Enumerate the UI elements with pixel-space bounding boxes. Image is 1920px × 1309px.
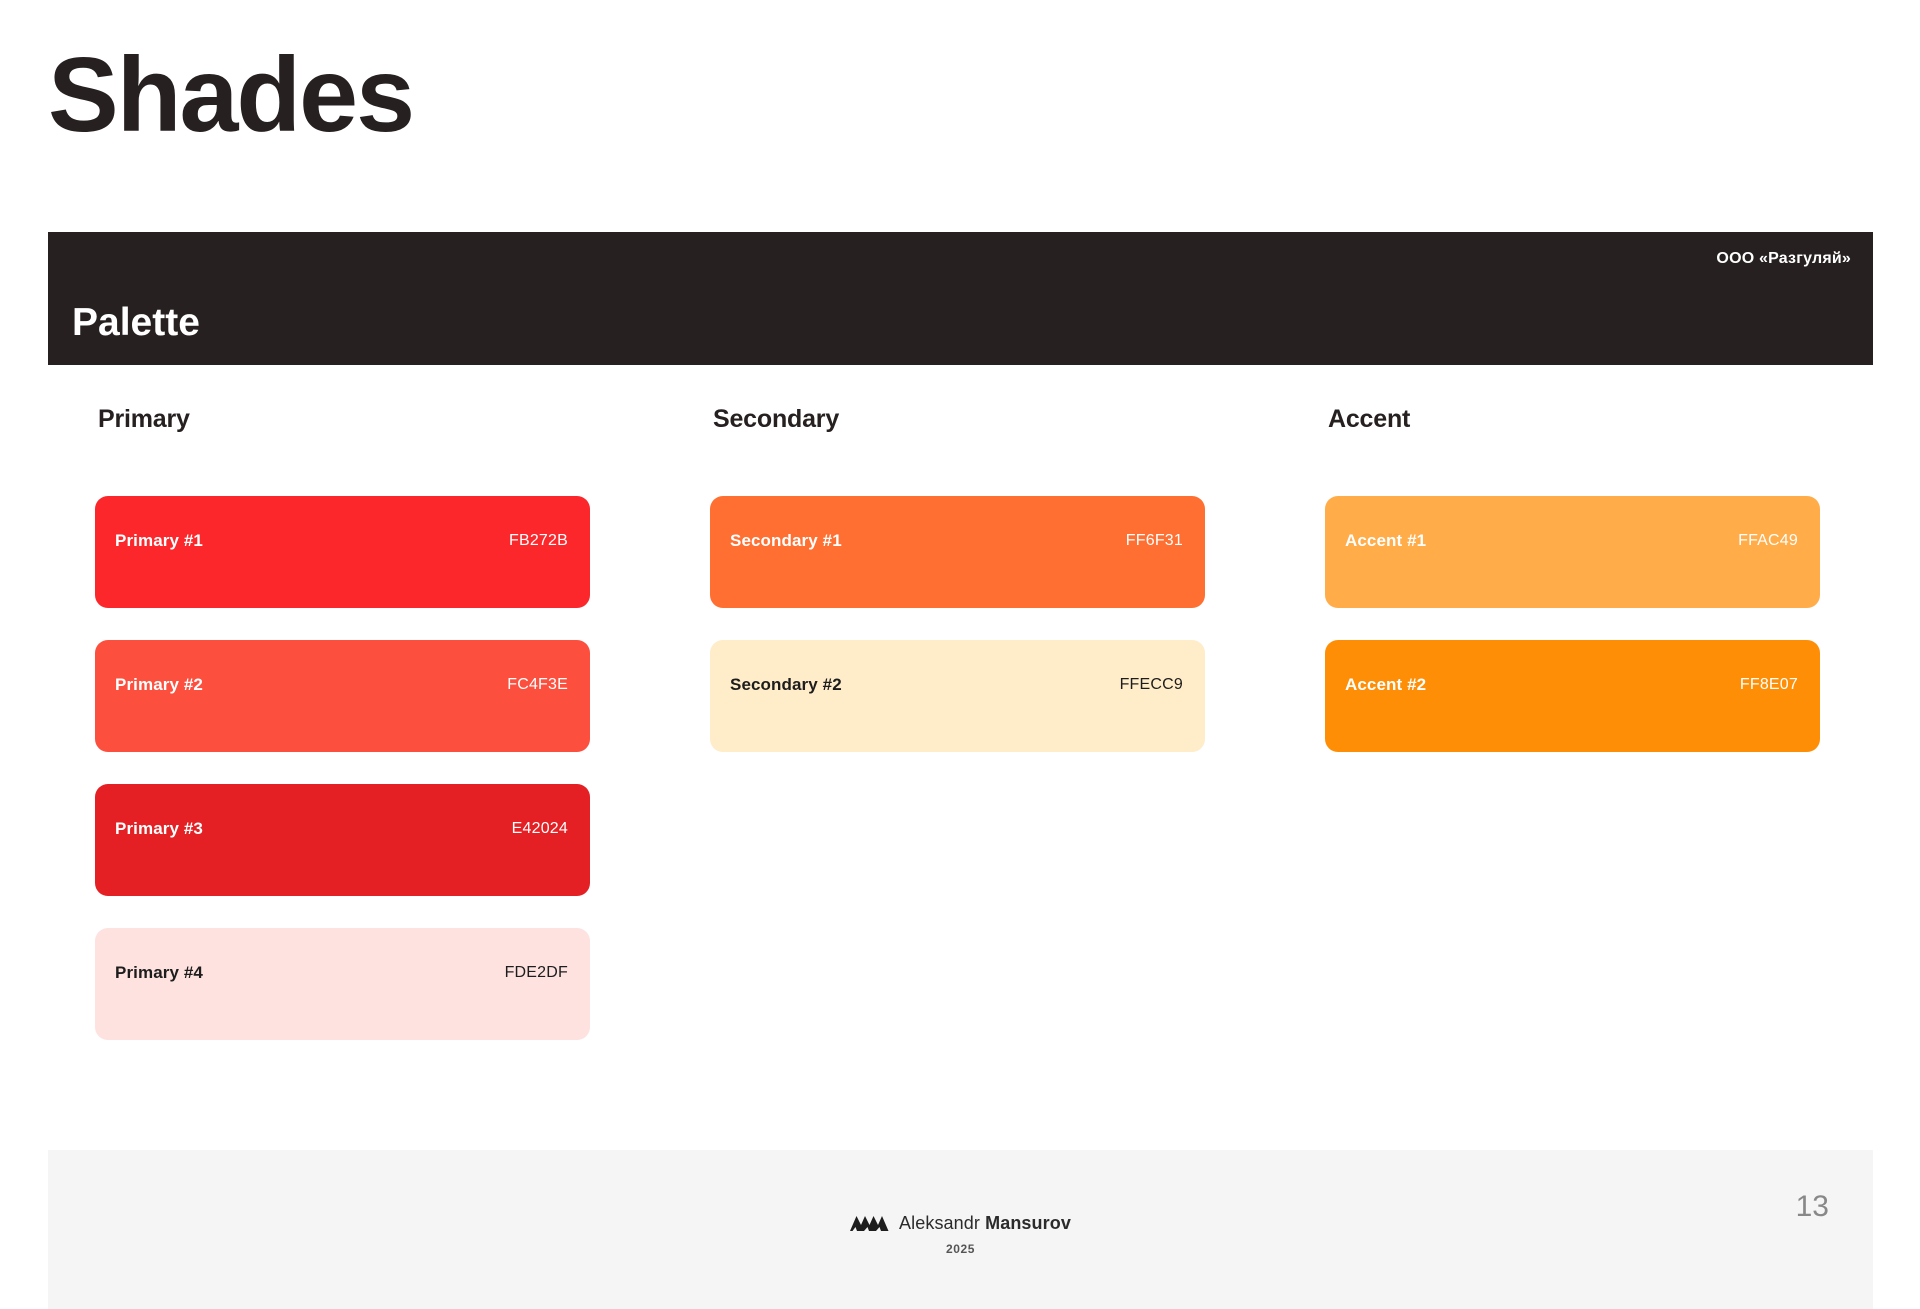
- swatch-name: Primary #2: [115, 675, 203, 695]
- page-number: 13: [1796, 1190, 1829, 1224]
- footer-signature: Aleksandr Mansurov 2025: [48, 1213, 1873, 1256]
- author-last-name: Mansurov: [985, 1213, 1071, 1233]
- palette-column-accent: Accent Accent #1 FFAC49 Accent #2 FF8E07: [1325, 405, 1820, 1040]
- color-swatch[interactable]: Primary #2 FC4F3E: [95, 640, 590, 752]
- swatch-name: Accent #2: [1345, 675, 1426, 695]
- swatch-name: Accent #1: [1345, 531, 1426, 551]
- swatch-name: Secondary #1: [730, 531, 842, 551]
- swatch-hex-value: FFAC49: [1738, 532, 1798, 550]
- palette-column-secondary: Secondary Secondary #1 FF6F31 Secondary …: [710, 405, 1205, 1040]
- color-swatch[interactable]: Primary #4 FDE2DF: [95, 928, 590, 1040]
- swatch-hex-value: FC4F3E: [507, 676, 568, 694]
- swatch-hex-value: FF6F31: [1126, 532, 1183, 550]
- section-header-bar: Palette ООО «Разгуляй»: [48, 232, 1873, 365]
- swatch-list-primary: Primary #1 FB272B Primary #2 FC4F3E Prim…: [95, 496, 590, 1040]
- palette-column-primary: Primary Primary #1 FB272B Primary #2 FC4…: [95, 405, 590, 1040]
- color-swatch[interactable]: Secondary #2 FFECC9: [710, 640, 1205, 752]
- color-swatch[interactable]: Accent #2 FF8E07: [1325, 640, 1820, 752]
- swatch-name: Secondary #2: [730, 675, 842, 695]
- swatch-hex-value: FF8E07: [1740, 676, 1798, 694]
- swatch-hex-value: FDE2DF: [505, 964, 568, 982]
- color-swatch[interactable]: Secondary #1 FF6F31: [710, 496, 1205, 608]
- footer: Aleksandr Mansurov 2025 13: [48, 1150, 1873, 1309]
- page-title: Shades: [48, 40, 413, 151]
- company-name: ООО «Разгуляй»: [1716, 250, 1851, 268]
- color-swatch[interactable]: Primary #1 FB272B: [95, 496, 590, 608]
- color-swatch[interactable]: Accent #1 FFAC49: [1325, 496, 1820, 608]
- swatch-name: Primary #1: [115, 531, 203, 551]
- section-title: Palette: [72, 301, 200, 345]
- author-first-name: Aleksandr: [899, 1213, 980, 1233]
- swatch-hex-value: E42024: [512, 820, 568, 838]
- footer-year: 2025: [946, 1242, 975, 1256]
- swatch-list-secondary: Secondary #1 FF6F31 Secondary #2 FFECC9: [710, 496, 1205, 752]
- palette-columns: Primary Primary #1 FB272B Primary #2 FC4…: [95, 405, 1885, 1040]
- swatch-hex-value: FFECC9: [1120, 676, 1183, 694]
- color-swatch[interactable]: Primary #3 E42024: [95, 784, 590, 896]
- swatch-list-accent: Accent #1 FFAC49 Accent #2 FF8E07: [1325, 496, 1820, 752]
- swatch-hex-value: FB272B: [509, 532, 568, 550]
- author-name: Aleksandr Mansurov: [899, 1213, 1071, 1234]
- swatch-name: Primary #4: [115, 963, 203, 983]
- column-heading-primary: Primary: [98, 405, 590, 434]
- column-heading-secondary: Secondary: [713, 405, 1205, 434]
- column-heading-accent: Accent: [1328, 405, 1820, 434]
- swatch-name: Primary #3: [115, 819, 203, 839]
- footer-brand: Aleksandr Mansurov: [850, 1213, 1071, 1234]
- am-monogram-icon: [850, 1216, 890, 1231]
